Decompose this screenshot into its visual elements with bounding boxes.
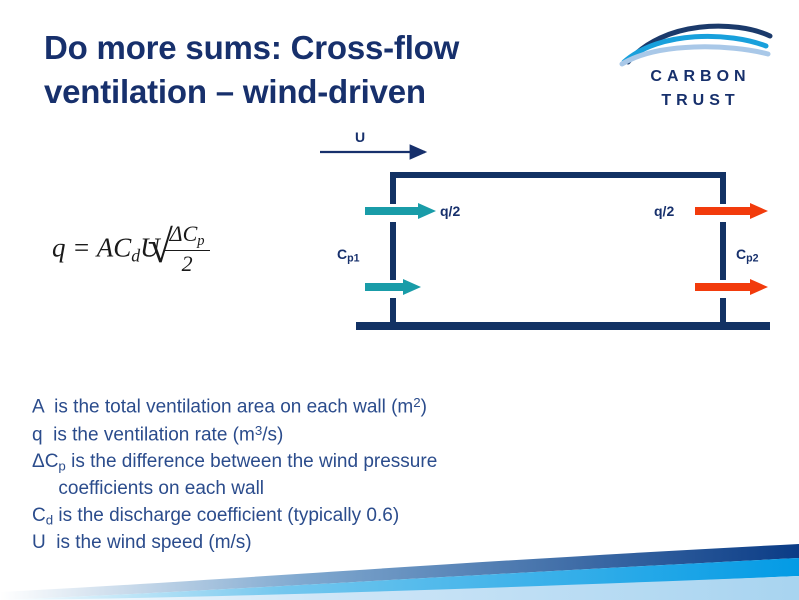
right-wall-upper — [720, 176, 726, 204]
logo-arcs-icon — [618, 22, 778, 68]
left-wall-upper — [390, 176, 396, 204]
definition-cd-lead: C — [32, 505, 46, 526]
cp1-base: C — [337, 246, 347, 262]
logo-word-trust: TRUST — [618, 92, 778, 110]
cp2-subscript: p2 — [746, 253, 758, 265]
equation-radical: √ ΔCp 2 — [165, 222, 210, 278]
definition-item-a: A is the total ventilation area on each … — [32, 394, 632, 422]
equation-term-c: C — [113, 232, 131, 262]
slide-canvas: Do more sums: Cross-flow ventilation – w… — [0, 0, 799, 600]
equation-equals: = — [72, 232, 90, 262]
definition-a-text: A is the total ventilation area on each … — [32, 397, 413, 418]
pressure-coefficient-right-label: Cp2 — [736, 246, 759, 265]
inflow-arrow-upper — [365, 203, 436, 219]
right-wall-middle — [720, 222, 726, 280]
cp2-base: C — [736, 246, 746, 262]
equation-term-c-sub: d — [131, 245, 140, 265]
left-wall-lower — [390, 298, 396, 326]
definition-item-cd: Cd is the discharge coefficient (typical… — [32, 503, 632, 530]
wind-speed-label: U — [355, 129, 365, 145]
carbon-trust-logo: CARBON TRUST — [618, 22, 778, 114]
definition-a-superscript: 2 — [413, 395, 420, 410]
definition-a-tail: ) — [421, 397, 427, 418]
inflow-arrow-lower — [365, 279, 421, 295]
numerator-sub: p — [197, 233, 204, 249]
flow-label-right: q/2 — [654, 203, 674, 219]
equation-term-a: A — [97, 232, 114, 262]
definition-item-delta-cp-continuation: coefficients on each wall — [32, 476, 632, 503]
page-title: Do more sums: Cross-flow ventilation – w… — [44, 26, 614, 113]
cp1-subscript: p1 — [347, 253, 359, 265]
definition-item-q: q is the ventilation rate (m3/s) — [32, 422, 632, 450]
definition-cd-text: is the discharge coefficient (typically … — [53, 505, 399, 526]
building-roof — [390, 172, 726, 178]
definition-dcp-text: is the difference between the wind press… — [66, 451, 437, 472]
flow-label-left: q/2 — [440, 203, 460, 219]
equation-lhs: q — [52, 232, 66, 262]
logo-word-carbon: CARBON — [618, 68, 778, 86]
outflow-arrow-upper — [695, 203, 768, 219]
pressure-coefficient-left-label: Cp1 — [337, 246, 360, 265]
ventilation-equation: q = ACdU √ ΔCp 2 — [52, 222, 210, 278]
outflow-arrow-lower — [695, 279, 768, 295]
right-wall-lower — [720, 298, 726, 326]
radical-sign-icon: √ — [148, 224, 173, 270]
footer-wave-decoration — [0, 530, 799, 600]
left-wall-middle — [390, 222, 396, 280]
building-floor — [356, 322, 770, 330]
numerator-c: C — [183, 221, 198, 246]
definition-dcp-subscript: p — [58, 458, 65, 473]
definition-q-text: q is the ventilation rate (m — [32, 424, 255, 445]
definition-dcp-lead: ΔC — [32, 451, 58, 472]
definition-item-delta-cp: ΔCp is the difference between the wind p… — [32, 449, 632, 476]
definition-q-tail: /s) — [262, 424, 283, 445]
